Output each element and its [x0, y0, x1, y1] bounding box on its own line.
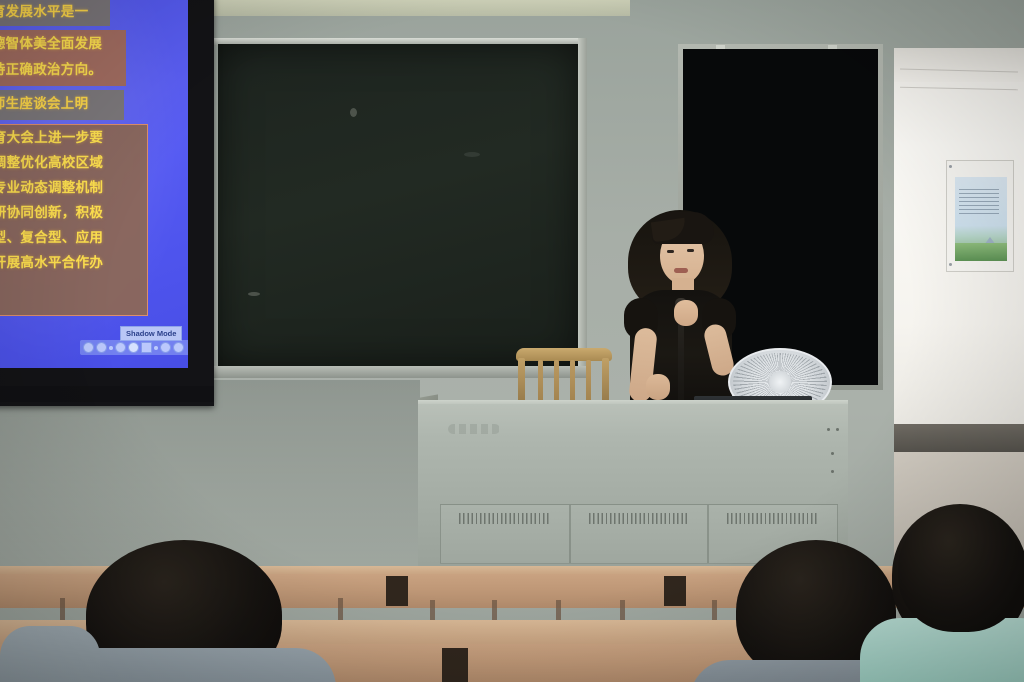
- slide-line: 坚持正确政治方向。: [0, 57, 124, 83]
- podium-vent-slats: [727, 513, 819, 524]
- presenter-speaking: [616, 206, 744, 418]
- bench-leg: [620, 600, 625, 622]
- podium-screw: [831, 470, 834, 473]
- doorway-ceiling: [894, 48, 1024, 82]
- bench-gap: [386, 576, 408, 606]
- podium-screw: [827, 428, 830, 431]
- pen-icon[interactable]: [83, 342, 94, 353]
- blackboard: [218, 44, 578, 366]
- slide-line: 科专业动态调整机制: [0, 176, 145, 201]
- slide-icon[interactable]: [141, 342, 152, 353]
- circle-icon[interactable]: [115, 342, 126, 353]
- presenter-hand-lower: [646, 374, 670, 400]
- presenter-mouth: [674, 268, 688, 273]
- poster-pin-icon: [949, 165, 952, 168]
- close-icon[interactable]: [128, 342, 139, 353]
- shadow-mode-label[interactable]: Shadow Mode: [120, 326, 182, 341]
- pointer-icon[interactable]: [96, 342, 107, 353]
- slide-line: 的师生座谈会上明: [0, 91, 122, 117]
- slide-line: 教育大会上进一步要: [0, 126, 145, 151]
- panel-hinge: [716, 45, 725, 49]
- podium-screw: [831, 452, 834, 455]
- slide-text-block-b: 养德智体美全面发展 坚持正确政治方向。: [0, 30, 126, 86]
- bench-leg: [338, 598, 343, 620]
- slide-text-block-d: 教育大会上进一步要 ，调整优化高校区域 科专业动态调整机制 学研协同创新，积极 …: [0, 124, 148, 316]
- podium-vent-slats: [459, 513, 551, 524]
- dots-icon[interactable]: [154, 346, 158, 350]
- student-head-right-back: [898, 506, 1024, 632]
- bench-leg: [492, 600, 497, 622]
- slide-line: 新型、复合型、应用: [0, 226, 145, 251]
- bench-gap: [664, 576, 686, 606]
- doorway-baseboard: [894, 424, 1024, 452]
- presenter-eye-left: [667, 250, 674, 253]
- chair-backrest: [516, 348, 612, 361]
- fan-hub: [769, 371, 791, 393]
- wall-poster: [946, 160, 1014, 272]
- highlighter-icon[interactable]: [109, 346, 113, 350]
- poster-landscape: [955, 243, 1007, 261]
- podium-vent-slats: [589, 513, 689, 524]
- bench-leg: [712, 600, 717, 622]
- chalk-smudge: [248, 292, 260, 296]
- projection-screen-frame: 教育发展水平是一 养德智体美全面发展 坚持正确政治方向。 的师生座谈会上明 教育…: [0, 0, 214, 406]
- slide-line: 学研协同创新，积极: [0, 201, 145, 226]
- podium-brand-mark: [448, 424, 500, 434]
- presentation-toolbar[interactable]: [80, 340, 188, 355]
- slide-text-block-a: 教育发展水平是一: [0, 0, 110, 26]
- podium-screw: [836, 428, 839, 431]
- slide-line: ，调整优化高校区域: [0, 151, 145, 176]
- wall-shadow: [0, 380, 420, 570]
- slide-line: 教育发展水平是一: [0, 0, 108, 25]
- poster-pin-icon: [949, 263, 952, 266]
- bench-leg: [556, 600, 561, 622]
- bench-leg: [430, 600, 435, 622]
- student-shoulders-far-left: [0, 626, 100, 682]
- slide-line: 源开展高水平合作办: [0, 251, 145, 276]
- slide-line: 养德智体美全面发展: [0, 31, 124, 57]
- projection-screen[interactable]: 教育发展水平是一 养德智体美全面发展 坚持正确政治方向。 的师生座谈会上明 教育…: [0, 0, 188, 368]
- settings-icon[interactable]: [173, 342, 184, 353]
- presenter-eye-right: [687, 249, 694, 252]
- ceiling-beam: [200, 0, 630, 16]
- classroom-photo: 教育发展水平是一 养德智体美全面发展 坚持正确政治方向。 的师生座谈会上明 教育…: [0, 0, 1024, 682]
- slide-text-block-c: 的师生座谈会上明: [0, 90, 124, 120]
- pointer-down-icon[interactable]: [160, 342, 171, 353]
- presenter-hand-upper: [674, 300, 698, 326]
- chalk-smudge: [350, 108, 357, 117]
- poster-text-lines: [959, 189, 999, 219]
- chalk-smudge: [464, 152, 480, 157]
- podium-vent-panel: [570, 504, 708, 564]
- panel-hinge: [828, 45, 837, 49]
- blackboard-right-cap: [578, 38, 587, 378]
- bench-leg: [60, 598, 65, 620]
- projection-screen-bottom-bar: [0, 386, 214, 402]
- bench-gap: [442, 648, 468, 682]
- podium-vent-panel: [440, 504, 570, 564]
